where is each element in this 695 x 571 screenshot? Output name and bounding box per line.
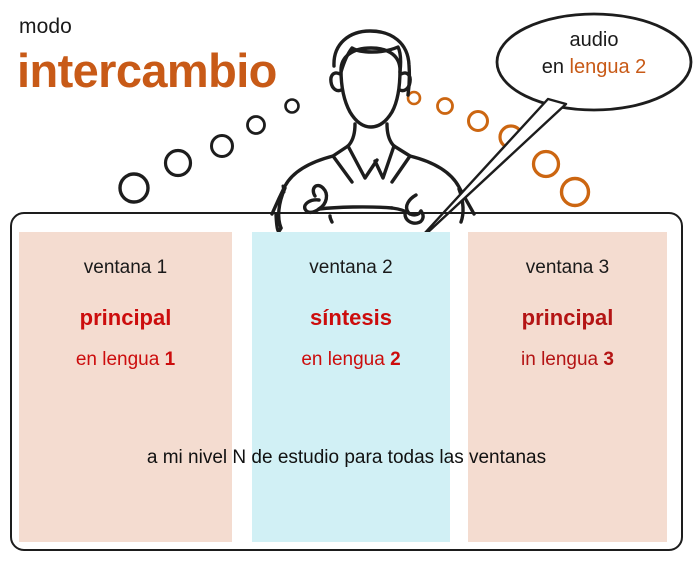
balloon-line-2-prefix: en (542, 56, 570, 78)
person-illustration (272, 31, 474, 231)
level-caption: a mi nivel N de estudio para todas las v… (10, 448, 683, 467)
thought-circles-right (408, 92, 589, 206)
speech-balloon-text: audio en lengua 2 (512, 27, 676, 81)
page-title: intercambio (17, 47, 277, 94)
diagram-canvas: modo intercambio (0, 0, 695, 571)
windows-container-border (10, 212, 683, 551)
thought-circles-left (120, 100, 299, 203)
balloon-line-2-highlight: lengua 2 (570, 56, 647, 78)
eyebrow-label: modo (19, 16, 72, 37)
stray-mark (283, 186, 284, 192)
balloon-line-1: audio (512, 27, 676, 54)
balloon-line-2: en lengua 2 (512, 54, 676, 81)
